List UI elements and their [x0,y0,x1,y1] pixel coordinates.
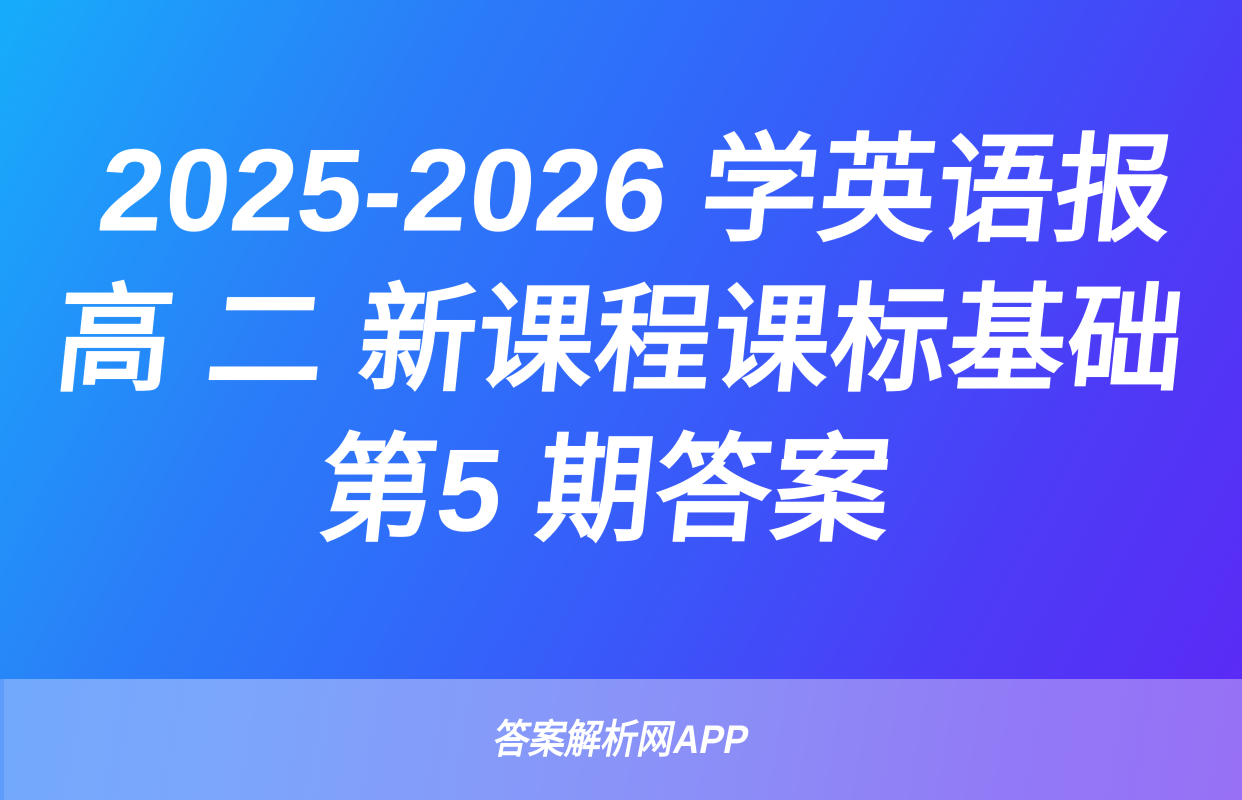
page-title: 2025-2026 学英语报 高 二 新课程课标基础 第5 期答案 [0,115,1242,564]
hero-gradient-background: 2025-2026 学英语报 高 二 新课程课标基础 第5 期答案 [0,0,1242,679]
page-title-line-3: 期答案 [530,423,898,554]
answer-key-poster: 2025-2026 学英语报 高 二 新课程课标基础 第5 期答案 答案解析网A… [0,0,1242,800]
watermark-band: 答案解析网APP [0,679,1242,800]
watermark-app-label: 答案解析网APP [490,720,752,760]
